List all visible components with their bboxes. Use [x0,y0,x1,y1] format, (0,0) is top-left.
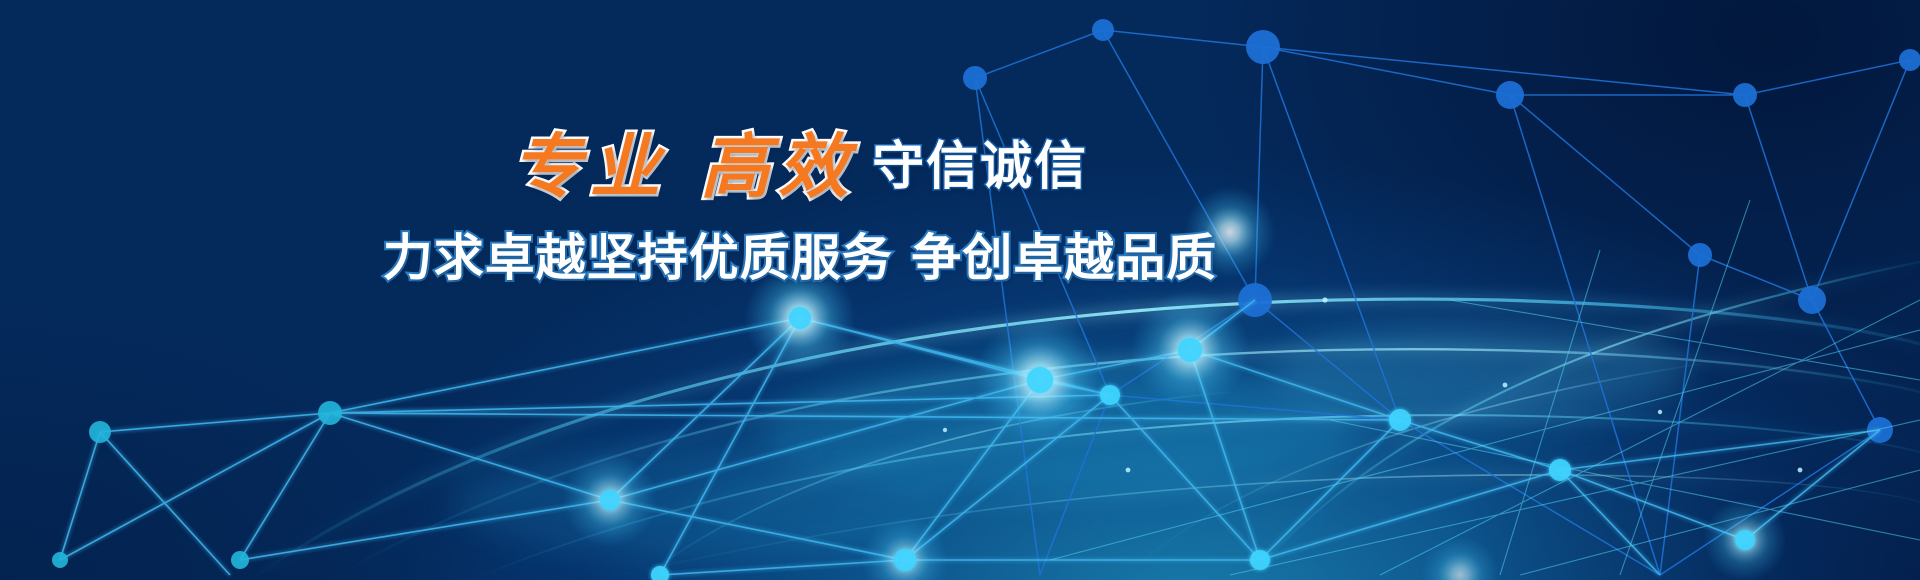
hero-banner: 专业 高效守信诚信 力求卓越坚持优质服务 争创卓越品质 [0,0,1920,580]
network-mesh-graphic [0,0,1920,580]
